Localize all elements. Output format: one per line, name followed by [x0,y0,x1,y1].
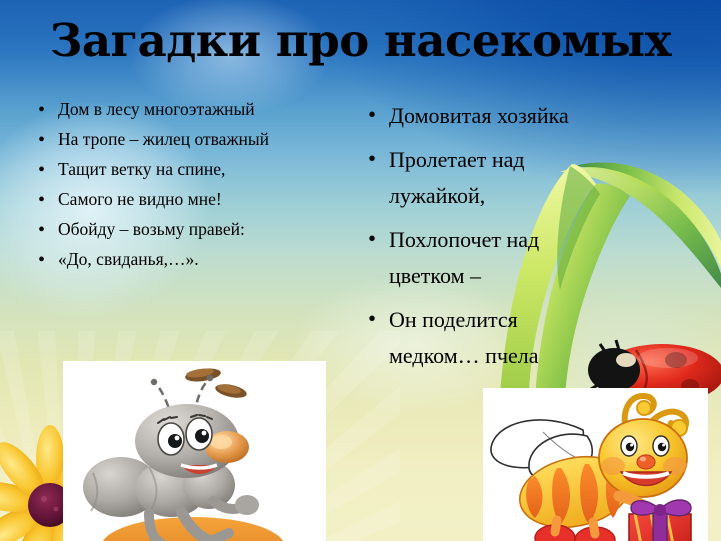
bullet-dot-icon: • [38,156,58,180]
list-item: • Он поделится медком… пчела [368,302,608,374]
cartoon-ant-illustration [63,361,326,541]
bullet-dot-icon: • [38,186,58,210]
riddle-line: Он поделится медком… пчела [389,302,608,374]
list-item: • На тропе – жилец отважный [38,126,356,152]
riddle-line: Домовитая хозяйка [389,98,608,134]
riddle-line: Дом в лесу многоэтажный [58,96,356,122]
list-item: • Самого не видно мне! [38,186,356,212]
riddle-line: «До, свиданья,…». [58,246,356,272]
bullet-dot-icon: • [368,142,389,170]
riddle-column-left: • Дом в лесу многоэтажный • На тропе – ж… [38,96,356,276]
bullet-dot-icon: • [368,222,389,250]
riddle-line: Похлопочет над цветком – [389,222,608,294]
cartoon-bee-with-gift-illustration [483,388,708,541]
riddle-line: Самого не видно мне! [58,186,356,212]
bullet-dot-icon: • [38,126,58,150]
list-item: • «До, свиданья,…». [38,246,356,272]
riddle-column-right: • Домовитая хозяйка • Пролетает над лужа… [368,98,608,382]
list-item: • Похлопочет над цветком – [368,222,608,294]
presentation-slide: Загадки про насекомых • Дом в лесу много… [0,0,721,541]
riddle-line: Обойду – возьму правей: [58,216,356,242]
riddle-line: Пролетает над лужайкой, [389,142,608,214]
bullet-dot-icon: • [38,246,58,270]
bullet-dot-icon: • [368,98,389,126]
riddle-line: Тащит ветку на спине, [58,156,356,182]
bullet-dot-icon: • [38,96,58,120]
riddle-line: На тропе – жилец отважный [58,126,356,152]
page-title: Загадки про насекомых [0,18,721,63]
list-item: • Тащит ветку на спине, [38,156,356,182]
list-item: • Домовитая хозяйка [368,98,608,134]
list-item: • Обойду – возьму правей: [38,216,356,242]
list-item: • Дом в лесу многоэтажный [38,96,356,122]
bullet-dot-icon: • [368,302,389,330]
list-item: • Пролетает над лужайкой, [368,142,608,214]
bullet-dot-icon: • [38,216,58,240]
